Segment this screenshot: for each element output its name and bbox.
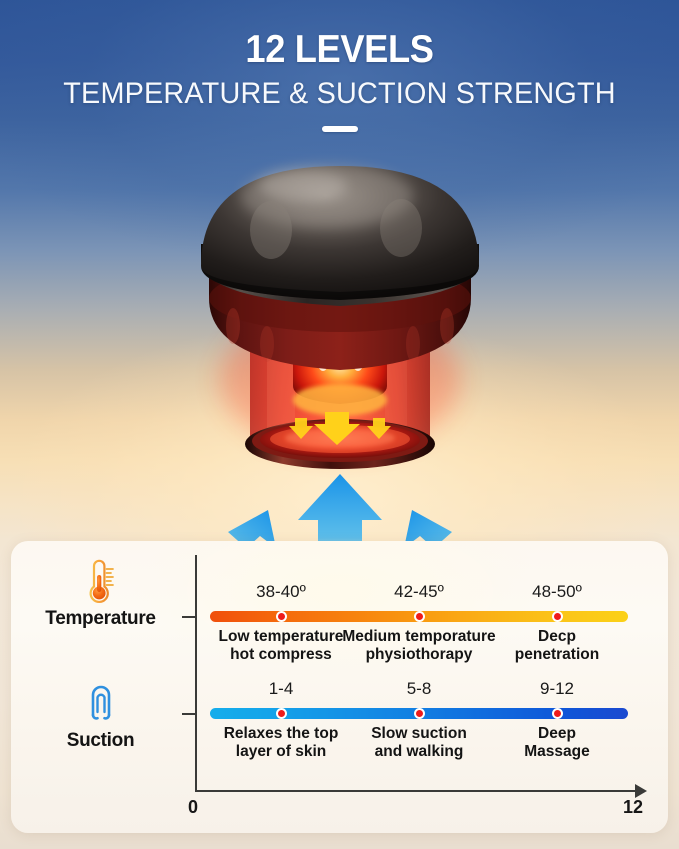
axis-min-label: 0 bbox=[188, 797, 198, 818]
page-title: 12 LEVELS bbox=[24, 0, 655, 69]
suction-row-label: Suction bbox=[13, 681, 188, 752]
levels-chart-card: Temperature Suction 0 bbox=[11, 541, 668, 833]
page-subtitle: TEMPERATURE & SUCTION STRENGTH bbox=[14, 69, 666, 109]
temperature-value-2: 42-45º bbox=[344, 582, 494, 602]
suction-value-1: 1-4 bbox=[206, 679, 356, 699]
suction-label: Suction bbox=[13, 730, 188, 752]
temperature-description-3-line1: Decp bbox=[469, 628, 645, 646]
temperature-description-3-line2: penetration bbox=[469, 646, 645, 664]
temperature-label: Temperature bbox=[13, 608, 188, 630]
header-divider bbox=[322, 126, 358, 132]
suction-value-3: 9-12 bbox=[482, 679, 632, 699]
suction-cup-icon bbox=[13, 681, 188, 727]
temperature-marker-3 bbox=[552, 611, 563, 622]
temperature-row-label: Temperature bbox=[13, 559, 188, 630]
levels-chart: Temperature Suction 0 bbox=[11, 541, 668, 833]
suction-marker-3 bbox=[552, 708, 563, 719]
suction-axis-tick bbox=[182, 713, 197, 715]
suction-marker-2 bbox=[414, 708, 425, 719]
x-axis-line bbox=[195, 790, 637, 792]
temperature-marker-2 bbox=[414, 611, 425, 622]
temperature-value-3: 48-50º bbox=[482, 582, 632, 602]
cupping-massager-device bbox=[175, 148, 505, 478]
temperature-axis-tick bbox=[182, 616, 197, 618]
suction-description-3-line1: Deep bbox=[469, 725, 645, 743]
x-axis-arrowhead bbox=[635, 784, 647, 798]
thermometer-icon bbox=[13, 559, 188, 605]
temperature-marker-1 bbox=[276, 611, 287, 622]
axis-max-label: 12 bbox=[623, 797, 643, 818]
suction-value-2: 5-8 bbox=[344, 679, 494, 699]
suction-marker-1 bbox=[276, 708, 287, 719]
temperature-description-3: Decp penetration bbox=[469, 628, 645, 664]
infographic-page: 12 LEVELS TEMPERATURE & SUCTION STRENGTH bbox=[0, 0, 679, 849]
temperature-value-1: 38-40º bbox=[206, 582, 356, 602]
suction-description-3: Deep Massage bbox=[469, 725, 645, 761]
header: 12 LEVELS TEMPERATURE & SUCTION STRENGTH bbox=[0, 0, 679, 132]
suction-description-3-line2: Massage bbox=[469, 743, 645, 761]
